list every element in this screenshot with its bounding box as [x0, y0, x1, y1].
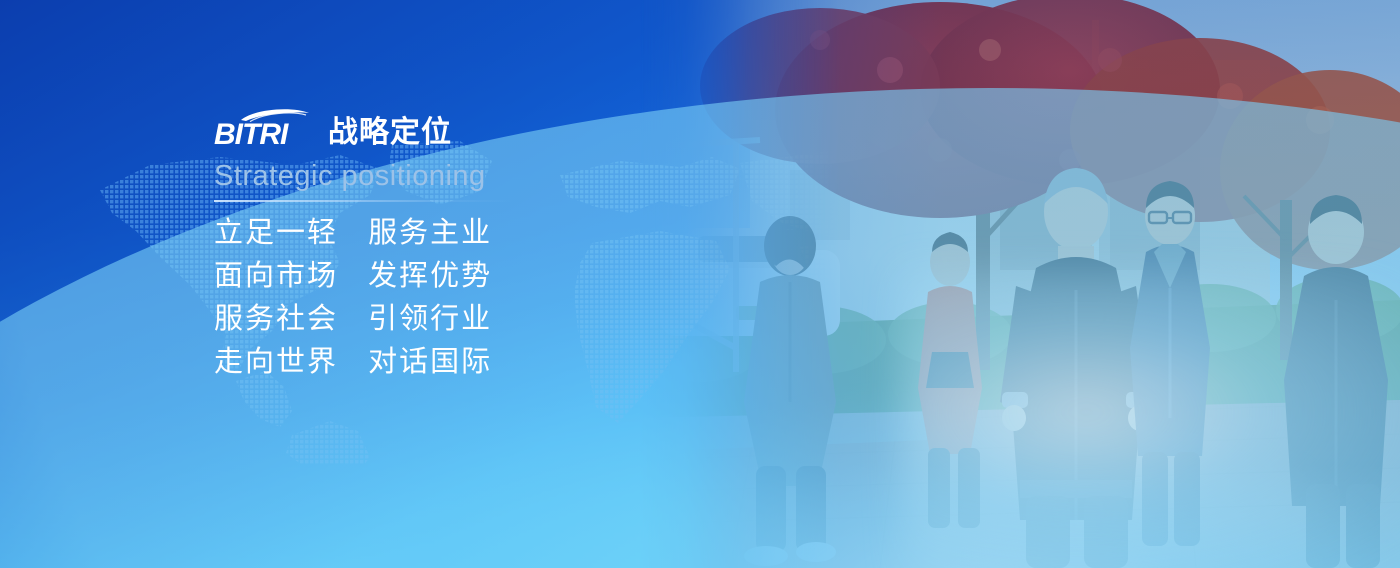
page-title-cn: 战略定位: [328, 118, 452, 148]
horizon-glow-group: [0, 0, 1400, 568]
slogan-line-2: 面向市场 发挥优势: [214, 262, 634, 291]
bitri-logo: BITRI: [214, 106, 314, 150]
slogan-line-3: 服务社会 引领行业: [214, 305, 634, 334]
page-subtitle-en: Strategic positioning: [214, 161, 634, 191]
banner-title-row: BITRI 战略定位: [214, 104, 634, 150]
bitri-wordmark: BITRI: [214, 120, 287, 150]
slogan-line-1: 立足一轻 服务主业: [214, 219, 634, 248]
horizon-hotspot-glow: [900, 268, 1400, 568]
slogan-line-4: 走向世界 对话国际: [214, 348, 634, 377]
title-divider: [214, 200, 514, 202]
slogan-list: 立足一轻 服务主业 面向市场 发挥优势 服务社会 引领行业 走向世界 对话国际: [214, 219, 634, 377]
banner-text-block: BITRI 战略定位 Strategic positioning 立足一轻 服务…: [214, 104, 634, 377]
strategic-positioning-banner: BITRI 战略定位 Strategic positioning 立足一轻 服务…: [0, 0, 1400, 568]
